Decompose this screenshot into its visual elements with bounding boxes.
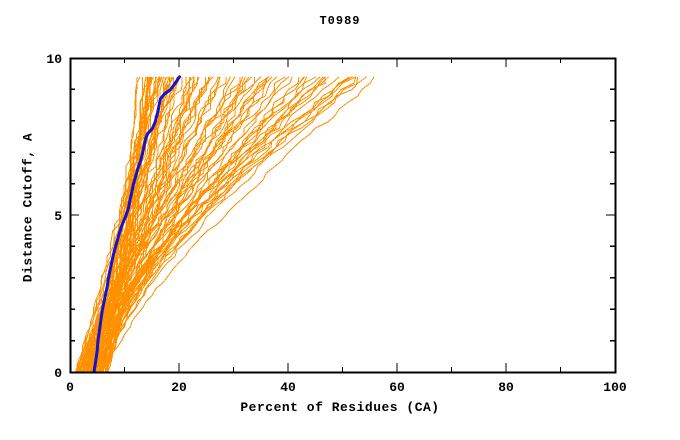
prediction-series-layer — [75, 77, 374, 372]
x-tick-label: 40 — [280, 380, 296, 395]
x-tick-label: 100 — [603, 380, 627, 395]
x-tick-label: 60 — [389, 380, 405, 395]
plot-canvas: 0204060801000510 — [0, 0, 680, 440]
y-tick-label: 10 — [46, 52, 62, 67]
chart-figure: T0989 Distance Cutoff, A Percent of Resi… — [0, 0, 680, 440]
x-tick-label: 80 — [498, 380, 514, 395]
x-tick-label: 20 — [171, 380, 187, 395]
y-tick-label: 5 — [54, 209, 62, 224]
x-tick-label: 0 — [66, 380, 74, 395]
y-tick-label: 0 — [54, 366, 62, 381]
